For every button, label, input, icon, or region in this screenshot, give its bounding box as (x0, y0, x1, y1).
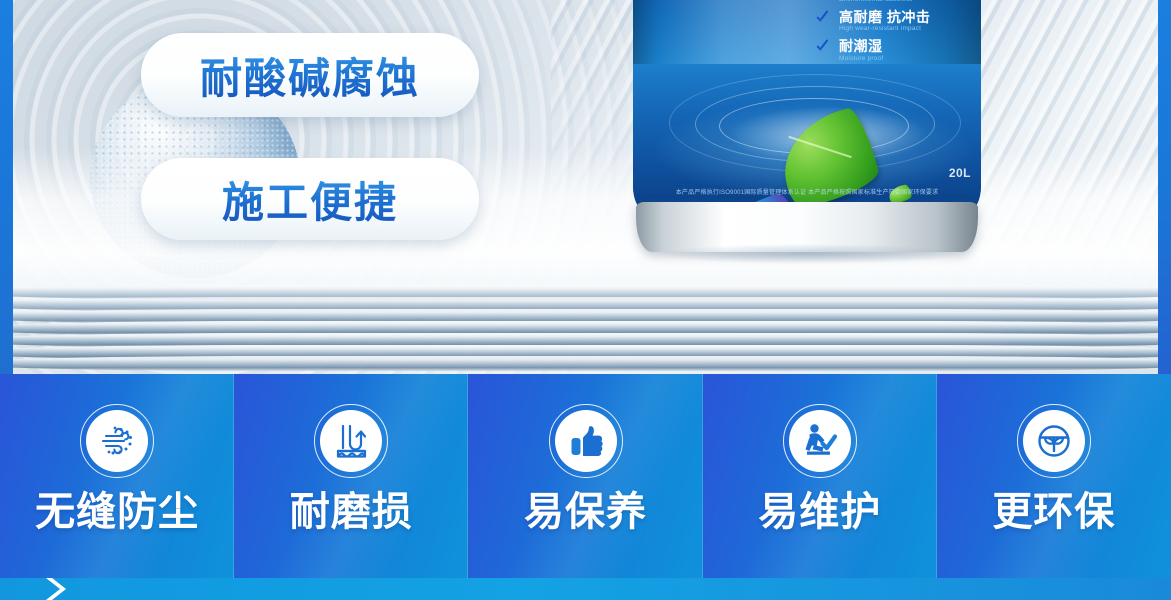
feature-cell-wear-resistant[interactable]: 耐磨损 (234, 374, 468, 578)
badge-label: 耐酸碱腐蚀 (200, 45, 420, 106)
eco-sprout-icon (1023, 410, 1085, 472)
bucket-label-body: 水性环保涂料 Waterborn environmental Coatings … (633, 0, 981, 212)
feature-cell-eco-friendly[interactable]: 更环保 (937, 374, 1171, 578)
hero-left-accent-border (0, 0, 13, 374)
worker-check-icon (789, 410, 851, 472)
thumbs-up-icon (555, 410, 617, 472)
feature-cell-dustproof[interactable]: 无缝防尘 (0, 374, 234, 578)
product-fineprint: 本产品严格执行ISO9001国际质量管理体系认证 本产品严格按照国家标准生产符合… (633, 189, 981, 198)
product-feature-label-en: Environmental tasteless (839, 0, 965, 3)
feature-label: 易保养 (524, 492, 647, 532)
feature-icon-ring (1017, 404, 1091, 478)
badge-easy-construction[interactable]: 施工便捷 (141, 158, 479, 240)
product-promo-page: 水性环保涂料 Waterborn environmental Coatings … (0, 0, 1171, 600)
feature-highlights-strip: 无缝防尘 耐磨损 (0, 374, 1171, 578)
feature-label: 更环保 (992, 492, 1115, 532)
product-feature-label-cn: 高耐磨 抗冲击 (839, 10, 965, 25)
product-feature-label-en: Moisture proof (839, 55, 965, 62)
bucket-shadow (659, 244, 959, 264)
check-icon (815, 42, 830, 55)
dust-wind-icon (86, 410, 148, 472)
feature-label: 易维护 (758, 492, 881, 532)
feature-icon-ring (783, 404, 857, 478)
product-volume: 20L (949, 166, 971, 180)
badge-acid-alkali-resistant[interactable]: 耐酸碱腐蚀 (141, 33, 479, 117)
chevron-right-icon (44, 578, 78, 600)
feature-label: 耐磨损 (290, 492, 413, 532)
label-water-ripple-art: 绿 色 环 保 家 园 20L 本产品严格执行ISO9001国际质量管理体系认证… (633, 64, 981, 212)
badge-label: 施工便捷 (222, 169, 398, 230)
feature-icon-ring (549, 404, 623, 478)
check-icon (815, 13, 830, 26)
product-feature-item: 耐潮湿 Moisture proof (815, 39, 965, 62)
hero-section: 水性环保涂料 Waterborn environmental Coatings … (0, 0, 1171, 374)
wear-rebound-icon (320, 410, 382, 472)
product-feature-label-cn: 耐潮湿 (839, 39, 965, 54)
feature-icon-ring (80, 404, 154, 478)
feature-icon-ring (314, 404, 388, 478)
feature-cell-easy-maintain[interactable]: 易保养 (468, 374, 702, 578)
hero-right-accent-border (1158, 0, 1171, 374)
product-feature-label-en: High wear-resistant impact (839, 25, 965, 32)
product-feature-item: 高耐磨 抗冲击 High wear-resistant impact (815, 10, 965, 33)
paint-bucket-product: 水性环保涂料 Waterborn environmental Coatings … (633, 0, 981, 258)
layered-wave-bands (0, 276, 1171, 374)
product-feature-item: 环保无味 Environmental tasteless (815, 0, 965, 3)
bottom-accent-bar (0, 578, 1171, 600)
feature-label: 无缝防尘 (35, 492, 199, 532)
feature-cell-easy-repair[interactable]: 易维护 (703, 374, 937, 578)
